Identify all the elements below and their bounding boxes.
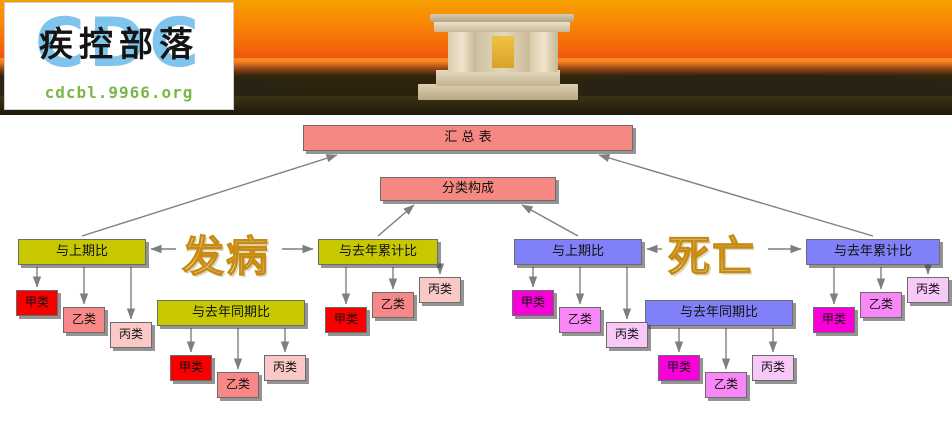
- diagram-leaf-inc-prev-乙类[interactable]: 乙类: [63, 307, 105, 333]
- node-label: 甲类: [25, 296, 49, 309]
- node-label: 乙类: [72, 313, 96, 326]
- node-label: 丙类: [615, 328, 639, 341]
- diagram-leaf-mor-prev-甲类[interactable]: 甲类: [512, 290, 554, 316]
- diagram-leaf-mor-cum-甲类[interactable]: 甲类: [813, 307, 855, 333]
- node-label: 分类构成: [442, 182, 494, 196]
- node-label: 甲类: [822, 313, 846, 326]
- diagram-node-inc-prev[interactable]: 与上期比: [18, 239, 146, 265]
- site-logo[interactable]: CDC 疾控部落 cdcbl.9966.org: [4, 2, 234, 110]
- node-label: 丙类: [761, 361, 785, 374]
- logo-chinese-name: 疾控部落: [5, 19, 233, 71]
- page-banner: CDC 疾控部落 cdcbl.9966.org: [0, 0, 952, 115]
- node-label: 与去年同期比: [192, 306, 270, 320]
- diagram-node-summary[interactable]: 汇 总 表: [303, 125, 633, 151]
- diagram-leaf-mor-same-丙类[interactable]: 丙类: [752, 355, 794, 381]
- connector-mor-prev-composition: [522, 205, 578, 236]
- connector-inc-cum-composition: [378, 205, 414, 236]
- diagram-node-inc-same[interactable]: 与去年同期比: [157, 300, 305, 326]
- diagram-leaf-inc-prev-丙类[interactable]: 丙类: [110, 322, 152, 348]
- node-label: 丙类: [428, 283, 452, 296]
- node-label: 与上期比: [552, 245, 604, 259]
- node-label: 甲类: [179, 361, 203, 374]
- flow-diagram: 汇 总 表分类构成与上期比与去年累计比与去年同期比与上期比与去年累计比与去年同期…: [0, 115, 952, 437]
- branch-title-mortality: 死亡: [668, 223, 756, 284]
- node-label: 与上期比: [56, 245, 108, 259]
- node-label: 乙类: [869, 298, 893, 311]
- node-label: 乙类: [226, 378, 250, 391]
- node-label: 与去年同期比: [680, 306, 758, 320]
- diagram-node-composition[interactable]: 分类构成: [380, 177, 556, 201]
- diagram-leaf-mor-cum-乙类[interactable]: 乙类: [860, 292, 902, 318]
- diagram-node-inc-cum[interactable]: 与去年累计比: [318, 239, 438, 265]
- diagram-leaf-mor-same-乙类[interactable]: 乙类: [705, 372, 747, 398]
- diagram-leaf-inc-same-乙类[interactable]: 乙类: [217, 372, 259, 398]
- node-label: 乙类: [714, 378, 738, 391]
- diagram-node-mor-cum[interactable]: 与去年累计比: [806, 239, 940, 265]
- node-label: 汇 总 表: [444, 131, 491, 145]
- screenshot-root: CDC 疾控部落 cdcbl.9966.org 汇 总 表分类构成与上期比与去年…: [0, 0, 952, 437]
- diagram-leaf-inc-cum-乙类[interactable]: 乙类: [372, 292, 414, 318]
- diagram-leaf-mor-same-甲类[interactable]: 甲类: [658, 355, 700, 381]
- monument-plinth-icon: [436, 70, 560, 86]
- diagram-leaf-inc-same-丙类[interactable]: 丙类: [264, 355, 306, 381]
- monument-cap-icon: [430, 14, 574, 22]
- diagram-node-mor-prev[interactable]: 与上期比: [514, 239, 642, 265]
- logo-url-text: cdcbl.9966.org: [5, 83, 233, 105]
- node-label: 丙类: [119, 328, 143, 341]
- node-label: 乙类: [568, 313, 592, 326]
- connector-layer: [0, 115, 952, 437]
- node-label: 甲类: [667, 361, 691, 374]
- node-label: 丙类: [273, 361, 297, 374]
- diagram-node-mor-same[interactable]: 与去年同期比: [645, 300, 793, 326]
- monument-base-icon: [418, 84, 578, 100]
- diagram-leaf-mor-cum-丙类[interactable]: 丙类: [907, 277, 949, 303]
- monument-plaque-icon: [492, 36, 514, 68]
- diagram-leaf-inc-cum-丙类[interactable]: 丙类: [419, 277, 461, 303]
- node-label: 乙类: [381, 298, 405, 311]
- node-label: 与去年累计比: [339, 245, 417, 259]
- diagram-leaf-inc-cum-甲类[interactable]: 甲类: [325, 307, 367, 333]
- node-label: 甲类: [334, 313, 358, 326]
- branch-title-incidence: 发病: [182, 223, 270, 284]
- node-label: 甲类: [521, 296, 545, 309]
- monument-right-column-icon: [530, 30, 558, 72]
- monument-left-column-icon: [448, 30, 476, 72]
- diagram-leaf-mor-prev-乙类[interactable]: 乙类: [559, 307, 601, 333]
- node-label: 与去年累计比: [834, 245, 912, 259]
- diagram-leaf-mor-prev-丙类[interactable]: 丙类: [606, 322, 648, 348]
- node-label: 丙类: [916, 283, 940, 296]
- diagram-leaf-inc-prev-甲类[interactable]: 甲类: [16, 290, 58, 316]
- diagram-leaf-inc-same-甲类[interactable]: 甲类: [170, 355, 212, 381]
